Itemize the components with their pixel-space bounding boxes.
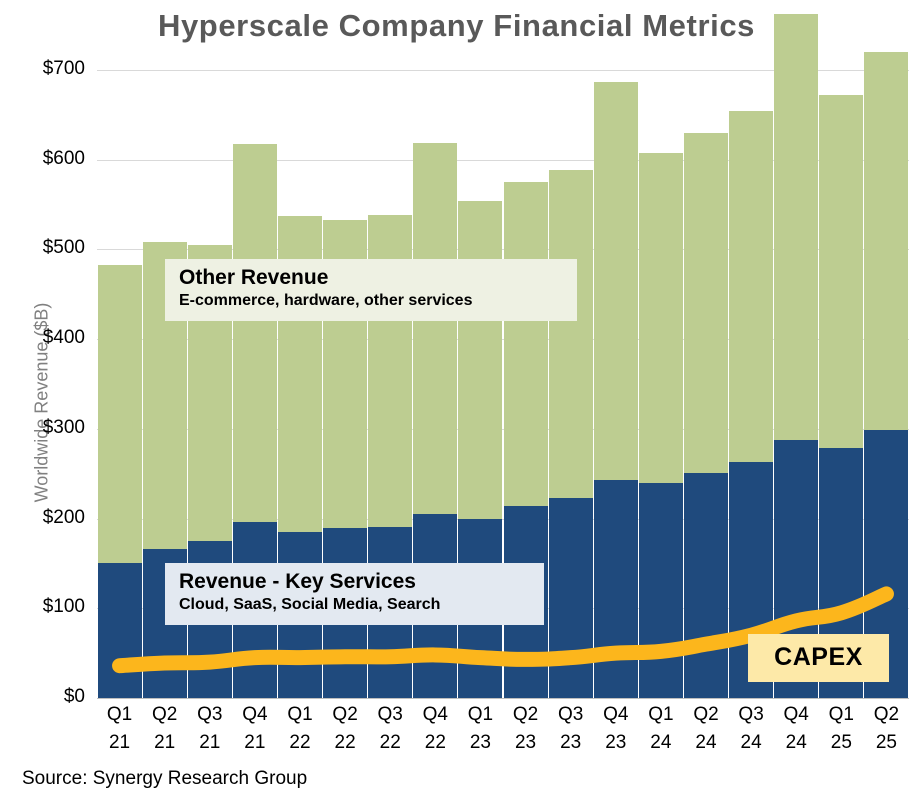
- x-tick-quarter: Q4: [773, 701, 819, 729]
- bar-segment-key-services[interactable]: [639, 483, 683, 698]
- x-axis-ticks: Q121Q221Q321Q421Q122Q222Q322Q422Q123Q223…: [97, 701, 909, 763]
- x-tick-quarter: Q4: [232, 701, 278, 729]
- callout-key-services-subtitle: Cloud, SaaS, Social Media, Search: [179, 595, 532, 616]
- bar-segment-other-revenue[interactable]: [549, 170, 593, 498]
- x-tick-year: 23: [457, 729, 503, 757]
- x-tick-year: 22: [277, 729, 323, 757]
- y-axis-tick-label: $400: [0, 328, 85, 347]
- x-tick-quarter: Q1: [277, 701, 323, 729]
- y-axis-tick-label: $600: [0, 149, 85, 168]
- x-tick-year: 25: [818, 729, 864, 757]
- bar-segment-other-revenue[interactable]: [504, 182, 548, 506]
- x-tick-quarter: Q3: [548, 701, 594, 729]
- bar-segment-other-revenue[interactable]: [594, 82, 638, 480]
- x-tick-year: 25: [863, 729, 909, 757]
- x-tick-quarter: Q4: [593, 701, 639, 729]
- x-tick-year: 21: [97, 729, 143, 757]
- x-tick-quarter: Q2: [683, 701, 729, 729]
- chart-container: Hyperscale Company Financial Metrics Wor…: [0, 0, 913, 804]
- x-tick-year: 21: [232, 729, 278, 757]
- x-axis-tick-label: Q124: [638, 701, 684, 756]
- x-axis-tick-label: Q223: [503, 701, 549, 756]
- bar-column[interactable]: [549, 10, 593, 698]
- y-axis-tick-label: $0: [0, 687, 85, 706]
- callout-other-revenue-subtitle: E-commerce, hardware, other services: [179, 291, 565, 312]
- y-axis-tick-label: $500: [0, 238, 85, 257]
- x-axis-tick-label: Q421: [232, 701, 278, 756]
- x-tick-year: 23: [593, 729, 639, 757]
- x-tick-quarter: Q1: [638, 701, 684, 729]
- x-tick-year: 24: [773, 729, 819, 757]
- x-axis-tick-label: Q321: [187, 701, 233, 756]
- x-tick-year: 24: [728, 729, 774, 757]
- bar-segment-key-services[interactable]: [594, 480, 638, 698]
- x-tick-quarter: Q3: [367, 701, 413, 729]
- x-axis-tick-label: Q125: [818, 701, 864, 756]
- x-tick-quarter: Q2: [142, 701, 188, 729]
- x-axis-tick-label: Q222: [322, 701, 368, 756]
- bar-column[interactable]: [639, 10, 683, 698]
- bar-segment-other-revenue[interactable]: [684, 133, 728, 473]
- x-axis-tick-label: Q224: [683, 701, 729, 756]
- bar-segment-other-revenue[interactable]: [819, 95, 863, 448]
- x-tick-year: 21: [142, 729, 188, 757]
- x-tick-year: 24: [683, 729, 729, 757]
- x-tick-quarter: Q2: [322, 701, 368, 729]
- bar-segment-other-revenue[interactable]: [98, 265, 142, 564]
- y-axis-tick-label: $200: [0, 508, 85, 527]
- x-tick-quarter: Q2: [503, 701, 549, 729]
- x-axis-tick-label: Q122: [277, 701, 323, 756]
- x-axis-tick-label: Q423: [593, 701, 639, 756]
- callout-other-revenue: Other Revenue E-commerce, hardware, othe…: [165, 259, 577, 321]
- source-note: Source: Synergy Research Group: [22, 768, 307, 790]
- callout-capex-title: CAPEX: [774, 642, 863, 673]
- bar-segment-key-services[interactable]: [549, 498, 593, 698]
- bar-segment-other-revenue[interactable]: [774, 14, 818, 439]
- x-axis-tick-label: Q225: [863, 701, 909, 756]
- gridline: [97, 698, 909, 699]
- x-axis-tick-label: Q123: [457, 701, 503, 756]
- x-tick-quarter: Q3: [728, 701, 774, 729]
- x-tick-year: 21: [187, 729, 233, 757]
- bar-segment-other-revenue[interactable]: [233, 144, 277, 523]
- x-tick-year: 22: [367, 729, 413, 757]
- x-tick-year: 24: [638, 729, 684, 757]
- x-axis-tick-label: Q422: [412, 701, 458, 756]
- bar-segment-other-revenue[interactable]: [639, 153, 683, 483]
- bar-column[interactable]: [98, 10, 142, 698]
- x-tick-quarter: Q1: [97, 701, 143, 729]
- y-axis-tick-label: $300: [0, 418, 85, 437]
- callout-capex: CAPEX: [748, 634, 889, 682]
- y-axis-tick-label: $100: [0, 597, 85, 616]
- bar-segment-other-revenue[interactable]: [458, 201, 502, 519]
- callout-other-revenue-title: Other Revenue: [179, 265, 565, 291]
- x-tick-year: 22: [322, 729, 368, 757]
- x-tick-year: 22: [412, 729, 458, 757]
- x-axis-tick-label: Q424: [773, 701, 819, 756]
- bar-segment-key-services[interactable]: [98, 563, 142, 698]
- bar-column[interactable]: [729, 10, 773, 698]
- bar-column[interactable]: [594, 10, 638, 698]
- x-axis-tick-label: Q324: [728, 701, 774, 756]
- x-tick-year: 23: [548, 729, 594, 757]
- x-axis-tick-label: Q121: [97, 701, 143, 756]
- bar-segment-other-revenue[interactable]: [413, 143, 457, 514]
- bar-segment-key-services[interactable]: [684, 473, 728, 698]
- x-tick-quarter: Q4: [412, 701, 458, 729]
- x-tick-quarter: Q1: [457, 701, 503, 729]
- bar-column[interactable]: [774, 10, 818, 698]
- y-axis-title: Worldwide Revenue ($B): [32, 273, 53, 533]
- x-tick-year: 23: [503, 729, 549, 757]
- bar-segment-other-revenue[interactable]: [864, 52, 908, 430]
- x-axis-tick-label: Q322: [367, 701, 413, 756]
- bar-column[interactable]: [819, 10, 863, 698]
- callout-key-services-title: Revenue - Key Services: [179, 569, 532, 595]
- bar-column[interactable]: [864, 10, 908, 698]
- x-tick-quarter: Q3: [187, 701, 233, 729]
- x-tick-quarter: Q2: [863, 701, 909, 729]
- x-axis-tick-label: Q323: [548, 701, 594, 756]
- y-axis-tick-label: $700: [0, 59, 85, 78]
- callout-key-services: Revenue - Key Services Cloud, SaaS, Soci…: [165, 563, 544, 625]
- x-axis-tick-label: Q221: [142, 701, 188, 756]
- bar-column[interactable]: [684, 10, 728, 698]
- bar-segment-other-revenue[interactable]: [729, 111, 773, 462]
- x-tick-quarter: Q1: [818, 701, 864, 729]
